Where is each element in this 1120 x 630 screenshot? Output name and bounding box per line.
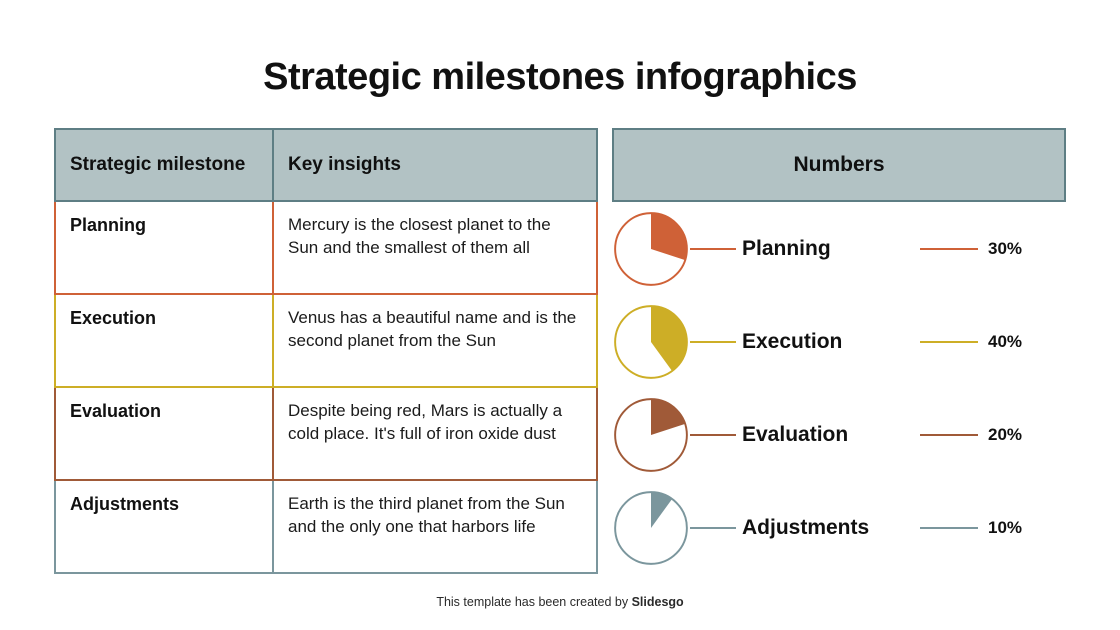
pie-chart-wrapper (612, 303, 690, 381)
cell-insight: Despite being red, Mars is actually a co… (274, 388, 596, 479)
number-row: Execution40% (612, 295, 1066, 388)
footer-brand: Slidesgo (632, 595, 684, 609)
connector-line-secondary (920, 248, 978, 250)
connector-line-secondary (920, 527, 978, 529)
connector-line (690, 341, 736, 343)
cell-milestone: Planning (56, 202, 274, 293)
cell-insight: Mercury is the closest planet to the Sun… (274, 202, 596, 293)
pie-chart-wrapper (612, 396, 690, 474)
number-label: Planning (736, 237, 920, 261)
column-header-insights: Key insights (274, 130, 596, 200)
footer-credit: This template has been created by Slides… (0, 595, 1120, 609)
table-row: ExecutionVenus has a beautiful name and … (54, 295, 598, 388)
pie-chart (612, 489, 690, 567)
page-title: Strategic milestones infographics (0, 56, 1120, 99)
number-label: Execution (736, 330, 920, 354)
cell-milestone: Evaluation (56, 388, 274, 479)
cell-insight: Earth is the third planet from the Sun a… (274, 481, 596, 572)
cell-insight: Venus has a beautiful name and is the se… (274, 295, 596, 386)
pie-chart (612, 303, 690, 381)
number-row: Adjustments10% (612, 481, 1066, 574)
percentage-value: 20% (978, 425, 1022, 445)
pie-chart (612, 396, 690, 474)
cell-milestone: Adjustments (56, 481, 274, 572)
table-header-row: Strategic milestone Key insights (54, 128, 598, 202)
connector-line-secondary (920, 341, 978, 343)
column-header-milestone: Strategic milestone (56, 130, 274, 200)
percentage-value: 30% (978, 239, 1022, 259)
pie-chart-wrapper (612, 210, 690, 288)
connector-line-secondary (920, 434, 978, 436)
number-row: Planning30% (612, 202, 1066, 295)
table-row: EvaluationDespite being red, Mars is act… (54, 388, 598, 481)
numbers-panel: Numbers Planning30%Execution40%Evaluatio… (612, 128, 1066, 574)
footer-text: This template has been created by (436, 595, 631, 609)
pie-chart-wrapper (612, 489, 690, 567)
milestones-table: Strategic milestone Key insights Plannin… (54, 128, 598, 574)
percentage-value: 40% (978, 332, 1022, 352)
cell-milestone: Execution (56, 295, 274, 386)
percentage-value: 10% (978, 518, 1022, 538)
number-label: Evaluation (736, 423, 920, 447)
number-label: Adjustments (736, 516, 920, 540)
connector-line (690, 434, 736, 436)
connector-line (690, 248, 736, 250)
table-row: AdjustmentsEarth is the third planet fro… (54, 481, 598, 574)
pie-chart (612, 210, 690, 288)
table-row: PlanningMercury is the closest planet to… (54, 202, 598, 295)
table-body: PlanningMercury is the closest planet to… (54, 202, 598, 574)
numbers-list: Planning30%Execution40%Evaluation20%Adju… (612, 202, 1066, 574)
numbers-panel-header: Numbers (612, 128, 1066, 202)
number-row: Evaluation20% (612, 388, 1066, 481)
connector-line (690, 527, 736, 529)
